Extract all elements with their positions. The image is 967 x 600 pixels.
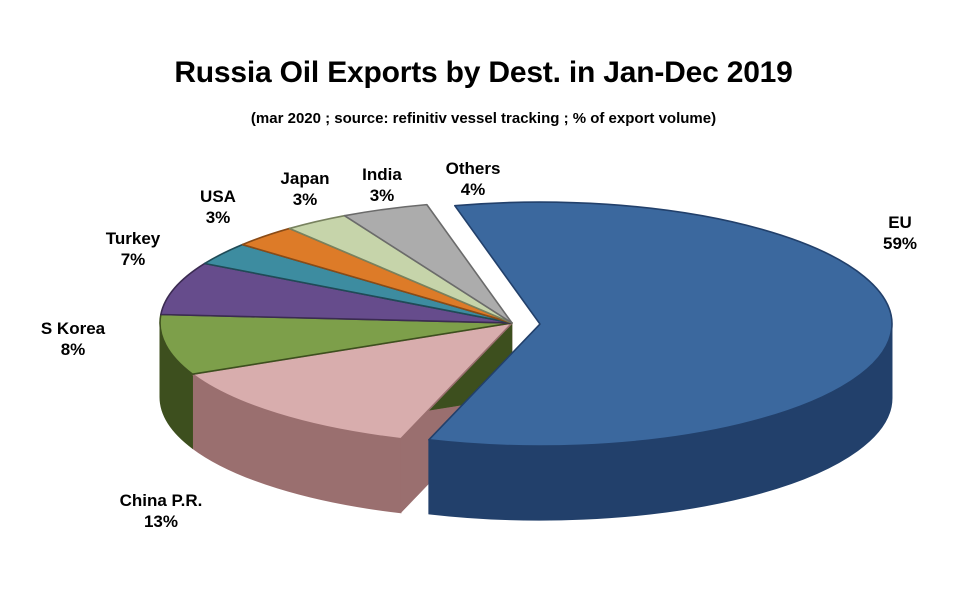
slice-label-others: Others 4%	[446, 158, 501, 201]
slice-label-usa-value: 3%	[200, 207, 236, 228]
slice-label-usa: USA 3%	[200, 186, 236, 229]
slice-label-china-name: China P.R.	[120, 490, 203, 511]
slice-label-others-name: Others	[446, 158, 501, 179]
slice-label-china-value: 13%	[120, 511, 203, 532]
slice-label-turkey-value: 7%	[106, 249, 161, 270]
slice-label-india: India 3%	[362, 164, 402, 207]
slice-label-skorea-name: S Korea	[41, 318, 105, 339]
slice-label-skorea-value: 8%	[41, 339, 105, 360]
slice-label-eu: EU 59%	[883, 212, 917, 255]
slice-label-japan: Japan 3%	[280, 168, 329, 211]
slice-label-usa-name: USA	[200, 186, 236, 207]
slice-label-japan-value: 3%	[280, 189, 329, 210]
slice-label-china: China P.R. 13%	[120, 490, 203, 533]
slice-label-others-value: 4%	[446, 179, 501, 200]
slice-label-turkey-name: Turkey	[106, 228, 161, 249]
slice-label-eu-name: EU	[883, 212, 917, 233]
slice-label-skorea: S Korea 8%	[41, 318, 105, 361]
slice-label-india-value: 3%	[362, 185, 402, 206]
pie-chart-figure: Russia Oil Exports by Dest. in Jan-Dec 2…	[0, 0, 967, 600]
slice-label-eu-value: 59%	[883, 233, 917, 254]
slice-label-india-name: India	[362, 164, 402, 185]
slice-label-japan-name: Japan	[280, 168, 329, 189]
slice-label-turkey: Turkey 7%	[106, 228, 161, 271]
